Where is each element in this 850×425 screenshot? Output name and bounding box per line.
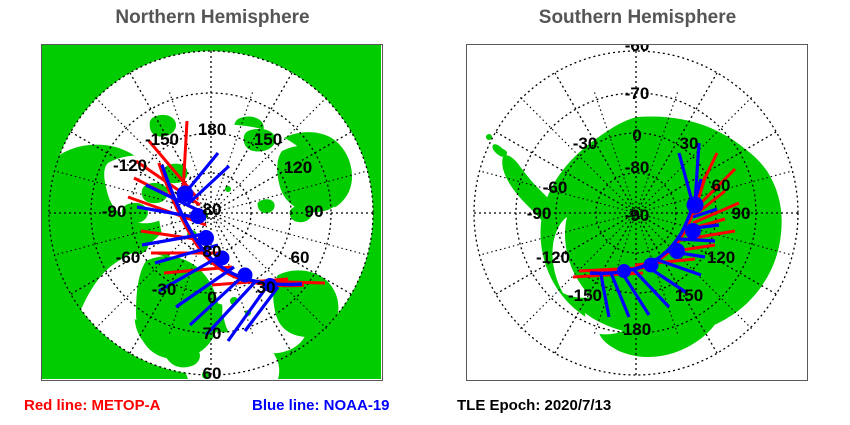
svg-text:0: 0 <box>207 288 216 307</box>
north-polar-map: 180 -150 150 -120 120 -90 90 -60 60 -30 … <box>42 45 381 379</box>
south-polar-map: -60 -70 -80 -90 0 30 60 90 120 150 180 -… <box>467 45 806 379</box>
plot-area-southern: -60 -70 -80 -90 0 30 60 90 120 150 180 -… <box>466 44 808 381</box>
svg-text:150: 150 <box>675 286 703 305</box>
svg-text:80: 80 <box>203 242 222 261</box>
svg-text:-120: -120 <box>536 248 570 267</box>
page-title-northern: Northern Hemisphere <box>0 6 425 30</box>
svg-text:70: 70 <box>203 324 222 343</box>
svg-text:-30: -30 <box>152 280 177 299</box>
svg-text:80: 80 <box>203 200 222 219</box>
snapshot-page: Northern Hemisphere <box>0 0 850 425</box>
svg-text:-60: -60 <box>543 178 568 197</box>
svg-text:-150: -150 <box>145 130 179 149</box>
svg-text:60: 60 <box>291 248 310 267</box>
svg-text:120: 120 <box>284 158 312 177</box>
svg-text:-60: -60 <box>625 45 650 55</box>
svg-text:-80: -80 <box>625 158 650 177</box>
legend-row: Red line: METOP-A Blue line: NOAA-19 TLE… <box>0 396 850 422</box>
legend-tle-epoch: TLE Epoch: 2020/7/13 <box>457 396 611 416</box>
svg-text:0: 0 <box>632 126 641 145</box>
svg-text:-150: -150 <box>568 286 602 305</box>
svg-text:150: 150 <box>254 130 282 149</box>
panel-southern-hemisphere: Southern Hemisphere <box>425 0 850 425</box>
plot-area-northern: 180 -150 150 -120 120 -90 90 -60 60 -30 … <box>41 44 383 381</box>
svg-text:-30: -30 <box>573 134 598 153</box>
svg-text:-90: -90 <box>527 204 552 223</box>
svg-text:180: 180 <box>623 320 651 339</box>
svg-text:30: 30 <box>257 278 276 297</box>
svg-text:120: 120 <box>707 248 735 267</box>
svg-text:30: 30 <box>680 134 699 153</box>
svg-text:-90: -90 <box>102 202 127 221</box>
svg-text:60: 60 <box>712 176 731 195</box>
svg-text:90: 90 <box>305 202 324 221</box>
svg-text:-90: -90 <box>625 206 650 225</box>
svg-text:180: 180 <box>198 120 226 139</box>
page-title-southern: Southern Hemisphere <box>425 6 850 30</box>
legend-noaa-19: Blue line: NOAA-19 <box>252 396 390 416</box>
legend-metop-a: Red line: METOP-A <box>24 396 160 416</box>
svg-text:60: 60 <box>203 364 222 379</box>
svg-text:90: 90 <box>732 204 751 223</box>
svg-text:-120: -120 <box>113 156 147 175</box>
panel-northern-hemisphere: Northern Hemisphere <box>0 0 425 425</box>
svg-text:-60: -60 <box>116 248 141 267</box>
svg-text:-70: -70 <box>625 84 650 103</box>
